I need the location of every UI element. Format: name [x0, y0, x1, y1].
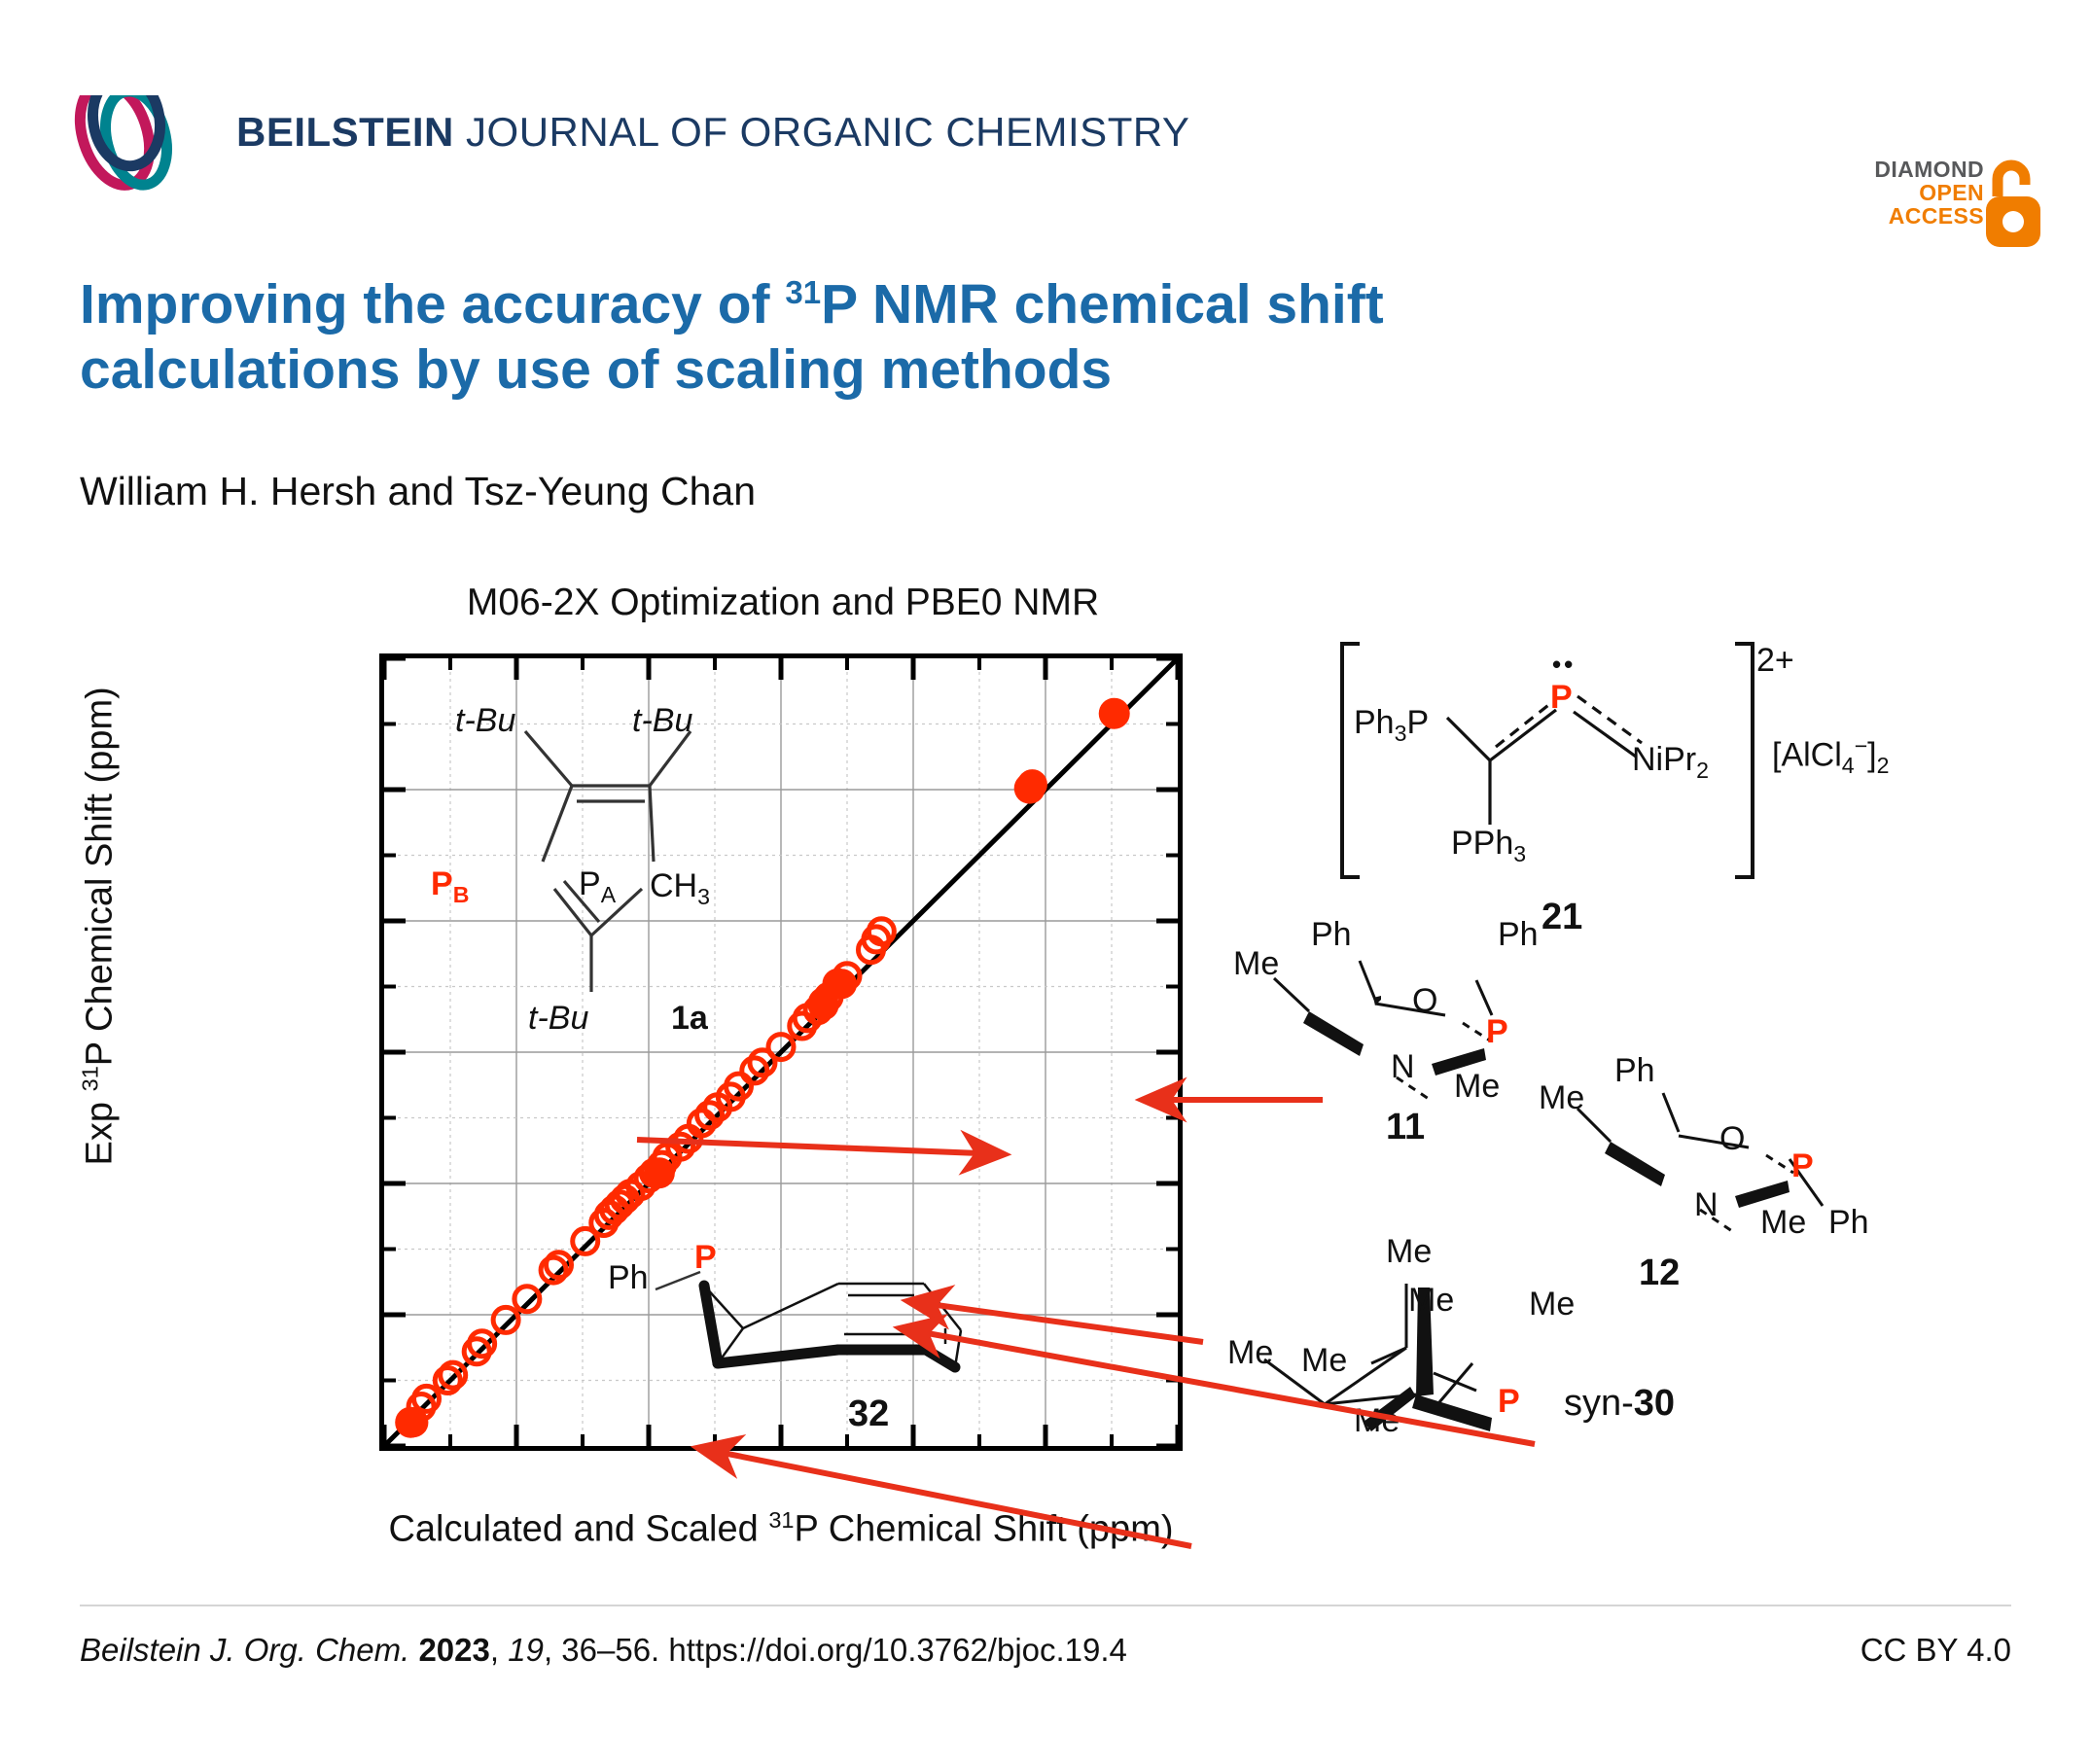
- y-axis-label: Exp 31P Chemical Shift (ppm): [78, 653, 122, 1198]
- data-point-open: [414, 1386, 440, 1411]
- structure-11-me-left: Me: [1233, 945, 1279, 983]
- structure-1a-pb-sub: B: [453, 882, 470, 907]
- structure-1a-pa-sub: A: [601, 882, 616, 907]
- structure-32-drawing: [681, 1274, 973, 1439]
- oa-access-label: ACCESS: [1874, 204, 1984, 228]
- footer-year: 2023: [418, 1632, 489, 1668]
- structure-syn30-me-left: Me: [1301, 1342, 1347, 1380]
- structure-11-ph-right: Ph: [1498, 916, 1539, 954]
- structure-21-charge: 2+: [1756, 642, 1794, 680]
- structure-12-p-label: P: [1791, 1147, 1814, 1185]
- structure-21-ph3p-p: P: [1406, 704, 1429, 741]
- structure-21-p-center: P: [1550, 679, 1573, 717]
- structure-32-ph-label: Ph: [608, 1259, 649, 1297]
- beilstein-rings-logo: [66, 70, 189, 193]
- structure-21-lone-pair-icon: ••: [1552, 650, 1576, 680]
- journal-name-light: JOURNAL OF ORGANIC CHEMISTRY: [454, 109, 1190, 155]
- structure-syn30-me-right: Me: [1529, 1286, 1575, 1323]
- data-point-open: [470, 1331, 495, 1357]
- page-header: BEILSTEIN JOURNAL OF ORGANIC CHEMISTRY D…: [0, 0, 2091, 185]
- structure-32-ph-bond: [654, 1266, 712, 1295]
- structure-1a-tbu-bottom: t-Bu: [528, 1000, 588, 1038]
- structure-21-ph3p-sub: 3: [1395, 721, 1407, 746]
- structure-12-o-label: O: [1719, 1120, 1745, 1158]
- footer-license: CC BY 4.0: [1861, 1632, 2011, 1669]
- x-axis-label: Calculated and Scaled 31P Chemical Shift…: [370, 1507, 1192, 1551]
- open-access-badge: DIAMOND OPEN ACCESS: [1843, 78, 2052, 185]
- structure-syn30-prefix: syn-: [1564, 1383, 1634, 1424]
- journal-name-bold: BEILSTEIN: [236, 109, 454, 155]
- open-access-words: DIAMOND OPEN ACCESS: [1874, 158, 1984, 228]
- data-point-open: [768, 1035, 794, 1060]
- oa-open-label: OPEN: [1874, 181, 1984, 204]
- structure-21-counterion: [AlCl4−]2: [1772, 733, 1889, 779]
- structure-11-p-label: P: [1486, 1013, 1508, 1051]
- y-axis-label-sup: 31: [78, 1066, 103, 1091]
- structure-syn30-me-farleft: Me: [1227, 1334, 1273, 1372]
- structure-syn30-p-label: P: [1498, 1383, 1520, 1421]
- structure-12-number: 12: [1639, 1252, 1680, 1294]
- data-point-filled: [822, 969, 853, 1000]
- structure-1a-ch3-sub: 3: [697, 884, 710, 909]
- structure-1a-ch3: CH: [650, 867, 697, 904]
- structure-12-ph-right: Ph: [1828, 1204, 1869, 1242]
- structure-1a-pb-label: PB: [431, 865, 469, 908]
- structure-11-o-label: O: [1412, 982, 1437, 1020]
- y-axis-label-pre: Exp: [79, 1091, 120, 1165]
- structure-21-nipr2-text: NiPr: [1632, 741, 1696, 778]
- structure-1a-number: 1a: [671, 1000, 708, 1038]
- open-lock-icon: [1982, 154, 2044, 251]
- structure-21-counterion-sub2: 2: [1877, 753, 1890, 778]
- page-title: Improving the accuracy of 31P NMR chemic…: [80, 272, 1733, 404]
- structure-21-pph3-sub: 3: [1513, 841, 1526, 866]
- structure-syn30-me-top: Me: [1386, 1233, 1432, 1271]
- structure-syn30-me-bottom: Me: [1354, 1402, 1400, 1440]
- footer-journal: Beilstein J. Org. Chem.: [80, 1632, 409, 1668]
- structure-syn30-me-top2: Me: [1408, 1282, 1454, 1320]
- structure-32-number: 32: [848, 1394, 889, 1435]
- title-superscript-31: 31: [785, 275, 821, 311]
- structure-11-n-label: N: [1391, 1048, 1415, 1086]
- footer-divider: [80, 1605, 2011, 1606]
- data-point-filled: [395, 1407, 426, 1438]
- structure-21-counterion-post: ]: [1867, 736, 1876, 773]
- structure-1a-tbu-top-right: t-Bu: [632, 702, 692, 740]
- footer-doi: https://doi.org/10.3762/bjoc.19.4: [668, 1632, 1127, 1668]
- title-line2: calculations by use of scaling methods: [80, 338, 1112, 401]
- structure-syn30-num: 30: [1634, 1383, 1675, 1424]
- structure-1a-pa-label: PA: [579, 865, 616, 908]
- structure-1a-tbu-top-left: t-Bu: [455, 702, 515, 740]
- data-point-filled: [1099, 698, 1130, 729]
- structure-11-number: 11: [1386, 1107, 1425, 1148]
- structure-11-me-bottom: Me: [1454, 1068, 1500, 1106]
- journal-title: BEILSTEIN JOURNAL OF ORGANIC CHEMISTRY: [236, 109, 1189, 156]
- x-axis-label-pre: Calculated and Scaled: [388, 1509, 768, 1550]
- title-line1-a: Improving the accuracy of: [80, 273, 785, 335]
- structure-1a-pa-p: P: [579, 865, 601, 902]
- x-axis-label-sup: 31: [768, 1507, 794, 1533]
- oa-diamond-label: DIAMOND: [1874, 158, 1984, 181]
- structure-21-ph3p-ph: Ph: [1354, 704, 1395, 741]
- data-point-open: [493, 1307, 518, 1332]
- footer-citation: Beilstein J. Org. Chem. 2023, 19, 36–56.…: [80, 1632, 1127, 1669]
- structure-21-pph3-label: PPh3: [1451, 825, 1526, 867]
- data-point-filled: [1014, 773, 1045, 804]
- structure-21-nipr2-sub: 2: [1696, 758, 1709, 783]
- chart-title: M06-2X Optimization and PBE0 NMR: [379, 582, 1187, 624]
- structure-21-counterion-sub: 4: [1842, 753, 1855, 778]
- footer-volume: 19: [508, 1632, 544, 1668]
- structure-1a-ch3-label: CH3: [650, 867, 710, 910]
- structure-1a-pb-p: P: [431, 865, 453, 902]
- structure-12-me-left: Me: [1539, 1079, 1584, 1117]
- data-point-filled: [644, 1157, 675, 1188]
- structure-12-ph-top: Ph: [1614, 1052, 1655, 1090]
- data-point-open: [514, 1287, 540, 1312]
- y-axis-label-post: P Chemical Shift (ppm): [79, 687, 120, 1066]
- title-line1-b: P NMR chemical shift: [821, 273, 1384, 335]
- structure-21-ph3p-label: Ph3P: [1354, 704, 1429, 747]
- footer-pages: 36–56.: [561, 1632, 659, 1668]
- structure-11-ph-top: Ph: [1311, 916, 1352, 954]
- structure-12-me-bottom: Me: [1760, 1204, 1806, 1242]
- author-list: William H. Hersh and Tsz-Yeung Chan: [80, 469, 756, 514]
- structure-21-counterion-pre: [AlCl: [1772, 736, 1842, 773]
- structure-21-pph3-text: PPh: [1451, 825, 1513, 862]
- x-axis-label-post: P Chemical Shift (ppm): [795, 1509, 1174, 1550]
- structure-21-nipr2-label: NiPr2: [1632, 741, 1709, 784]
- structure-21-counterion-sup: −: [1855, 733, 1868, 759]
- structure-syn30-number: syn-30: [1564, 1383, 1675, 1425]
- structure-12-n-label: N: [1694, 1186, 1719, 1224]
- figure-graphical-abstract: M06-2X Optimization and PBE0 NMR Exp 31P…: [0, 574, 2091, 1556]
